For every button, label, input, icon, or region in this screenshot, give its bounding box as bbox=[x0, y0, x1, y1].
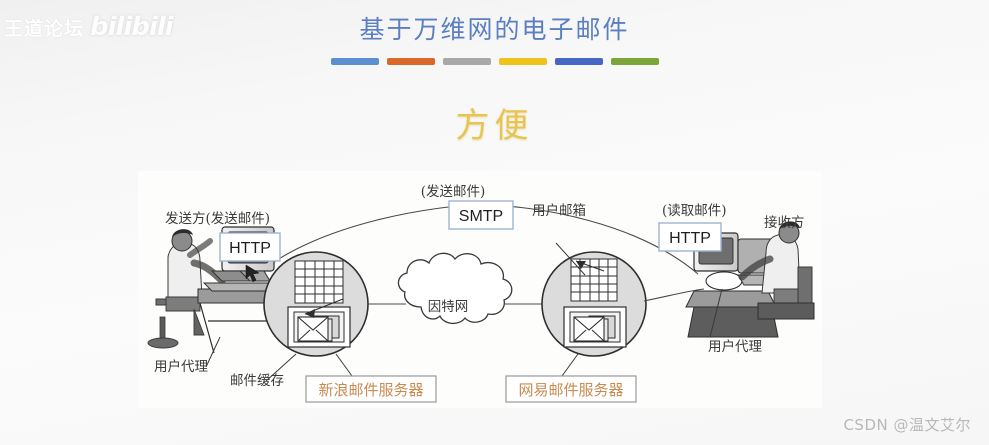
smtp-label: SMTP bbox=[459, 208, 503, 225]
receiver-label: 接收方 bbox=[764, 214, 805, 231]
sender-caption: 发送方(发送邮件) bbox=[165, 211, 270, 227]
receiver-http-box: HTTP bbox=[659, 223, 721, 251]
page-title: 基于万维网的电子邮件 bbox=[0, 14, 989, 46]
email-architecture-diagram: 因特网 bbox=[138, 171, 822, 408]
title-block: 基于万维网的电子邮件 bbox=[0, 14, 989, 65]
accent-bar-blue bbox=[331, 58, 379, 65]
sina-mail-server-node bbox=[264, 252, 368, 356]
netease-server-tag: 网易邮件服务器 bbox=[506, 376, 636, 402]
accent-bar-indigo bbox=[555, 58, 603, 65]
internet-cloud-label: 因特网 bbox=[428, 299, 469, 315]
accent-bar-orange bbox=[387, 58, 435, 65]
sina-server-tag: 新浪邮件服务器 bbox=[306, 376, 436, 402]
mailbox-grid-icon bbox=[295, 261, 343, 303]
user-mailbox-grid-icon bbox=[571, 259, 617, 301]
sender-http-label: HTTP bbox=[229, 240, 271, 257]
csdn-watermark: CSDN @温文艾尔 bbox=[843, 414, 971, 435]
receiver-http-label: HTTP bbox=[669, 230, 711, 247]
user-mailbox-label: 用户邮箱 bbox=[532, 202, 586, 219]
subtitle-text: 方便 bbox=[0, 98, 989, 147]
receiver-user-agent-label: 用户代理 bbox=[708, 338, 762, 355]
sender-user-agent-label: 用户代理 bbox=[154, 358, 208, 375]
smtp-box: SMTP bbox=[449, 201, 513, 229]
accent-bar-group bbox=[0, 58, 989, 65]
read-mail-caption: (读取邮件) bbox=[662, 203, 727, 219]
sina-server-tag-label: 新浪邮件服务器 bbox=[318, 381, 423, 399]
mail-cache-envelope-icon bbox=[288, 307, 350, 347]
mail-cache-label: 邮件缓存 bbox=[230, 373, 284, 389]
accent-bar-yellow bbox=[499, 58, 547, 65]
send-mail-caption: (发送邮件) bbox=[421, 184, 486, 200]
netease-server-tag-label: 网易邮件服务器 bbox=[518, 381, 623, 399]
accent-bar-green bbox=[611, 58, 659, 65]
accent-bar-gray bbox=[443, 58, 491, 65]
sender-http-box: HTTP bbox=[220, 233, 280, 261]
netease-mail-server-node bbox=[542, 252, 646, 356]
netease-envelope-icon bbox=[564, 307, 626, 347]
